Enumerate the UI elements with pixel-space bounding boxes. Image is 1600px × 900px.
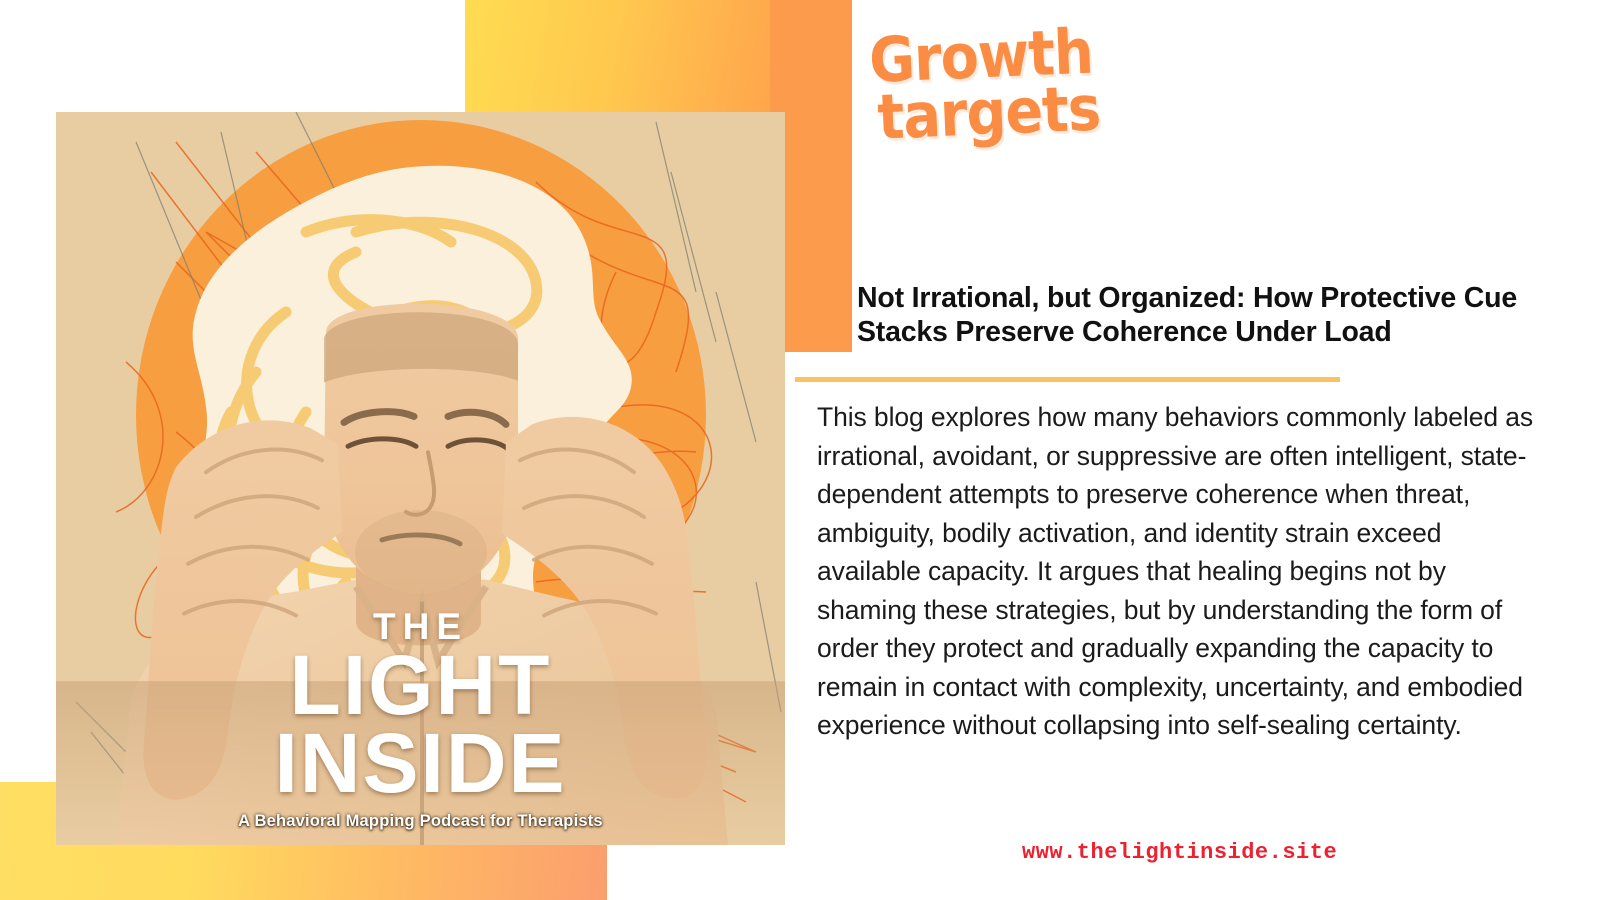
podcast-cover-art: THE LIGHT INSIDE A Behavioral Mapping Po…: [56, 112, 785, 845]
kicker-heading: Growth targets: [868, 14, 1292, 146]
cover-title-inside: INSIDE: [56, 725, 785, 802]
article-summary: This blog explores how many behaviors co…: [817, 398, 1537, 745]
website-link[interactable]: www.thelightinside.site: [1022, 840, 1337, 865]
article-headline: Not Irrational, but Organized: How Prote…: [857, 282, 1547, 349]
kicker-line-2: targets: [876, 71, 1292, 145]
cover-title-light: LIGHT: [56, 647, 785, 724]
cover-tagline: A Behavioral Mapping Podcast for Therapi…: [56, 812, 785, 831]
headline-divider: [795, 377, 1340, 382]
cover-title-block: THE LIGHT INSIDE A Behavioral Mapping Po…: [56, 608, 785, 831]
